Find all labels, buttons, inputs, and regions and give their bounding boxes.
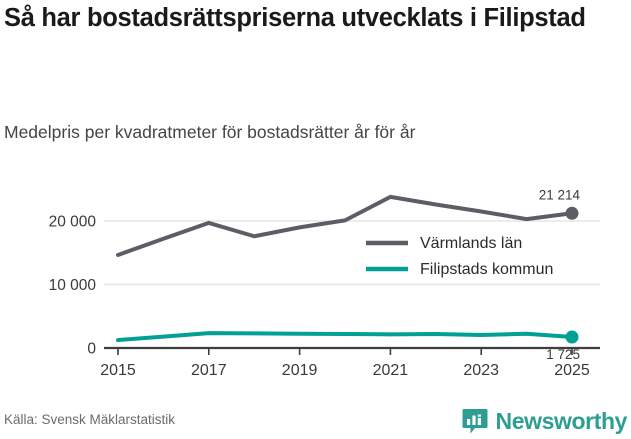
logo-wordmark: Newsworthy — [496, 410, 627, 433]
newsworthy-logo: Newsworthy — [461, 406, 627, 436]
legend-label: Värmlands län — [420, 235, 522, 252]
x-axis-ticks: 201520172019202120232025 — [100, 348, 590, 379]
source-note: Källa: Svensk Mäklarstatistik — [4, 412, 175, 427]
legend-label: Filipstads kommun — [420, 261, 553, 278]
chart-subtitle: Medelpris per kvadratmeter för bostadsrä… — [4, 122, 624, 144]
y-axis-ticks: 010 00020 000 — [49, 214, 97, 358]
page-title: Så har bostadsrättspriserna utvecklats i… — [4, 2, 624, 35]
x-tick-label: 2019 — [282, 362, 318, 379]
series-line-filipstads-kommun — [118, 333, 572, 340]
x-tick-label: 2023 — [463, 362, 499, 379]
line-chart-svg: 010 00020 000 201520172019202120232025 2… — [0, 175, 631, 390]
y-tick-label: 0 — [87, 341, 96, 358]
y-tick-label: 10 000 — [49, 277, 97, 294]
y-tick-label: 20 000 — [49, 214, 97, 231]
bar-chart-speech-bubble-icon — [461, 407, 489, 435]
x-tick-label: 2015 — [100, 362, 136, 379]
x-tick-label: 2021 — [373, 362, 409, 379]
series-end-label: 21 214 — [539, 187, 581, 202]
series-end-marker — [566, 207, 579, 220]
chart-legend: Värmlands länFilipstads kommun — [366, 235, 553, 278]
chart-plot-area: 010 00020 000 201520172019202120232025 2… — [0, 175, 631, 390]
series-end-label: 1 725 — [546, 347, 580, 362]
x-tick-label: 2017 — [191, 362, 227, 379]
chart-page: Så har bostadsrättspriserna utvecklats i… — [0, 0, 631, 439]
x-tick-label: 2025 — [554, 362, 590, 379]
series-end-marker — [566, 331, 579, 344]
